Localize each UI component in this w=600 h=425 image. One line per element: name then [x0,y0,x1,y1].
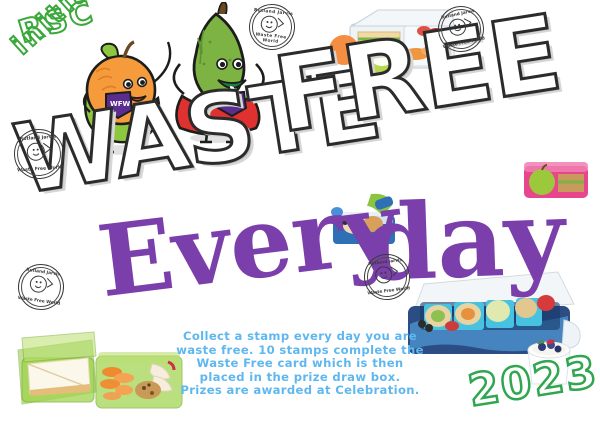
stamp-badge: Rutland Jarvis Waste Free World [12,127,65,180]
svg-text:WFW: WFW [222,100,243,108]
instructions-line-1: Collect a stamp every day you are [150,330,450,344]
svg-text:WFW: WFW [110,100,131,108]
stamp-badge: Rutland Jarvis Waste Free World [15,261,67,313]
instructions-line-4: placed in the prize draw box. [150,371,450,385]
instructions-text: Collect a stamp every day you are waste … [150,330,450,398]
instructions-line-3: Waste Free card which is then [150,357,450,371]
photo-green-lunchbox-sandwich [8,330,104,414]
photo-blue-lunchbox-bottle [325,190,413,252]
instructions-line-5: Prizes are awarded at Celebration. [150,384,450,398]
photo-pink-lunchbox-apple [520,152,592,204]
poster-canvas: WFW [0,0,600,425]
stamp-face-icon [23,138,55,169]
instructions-line-2: waste free. 10 stamps complete the [150,344,450,358]
